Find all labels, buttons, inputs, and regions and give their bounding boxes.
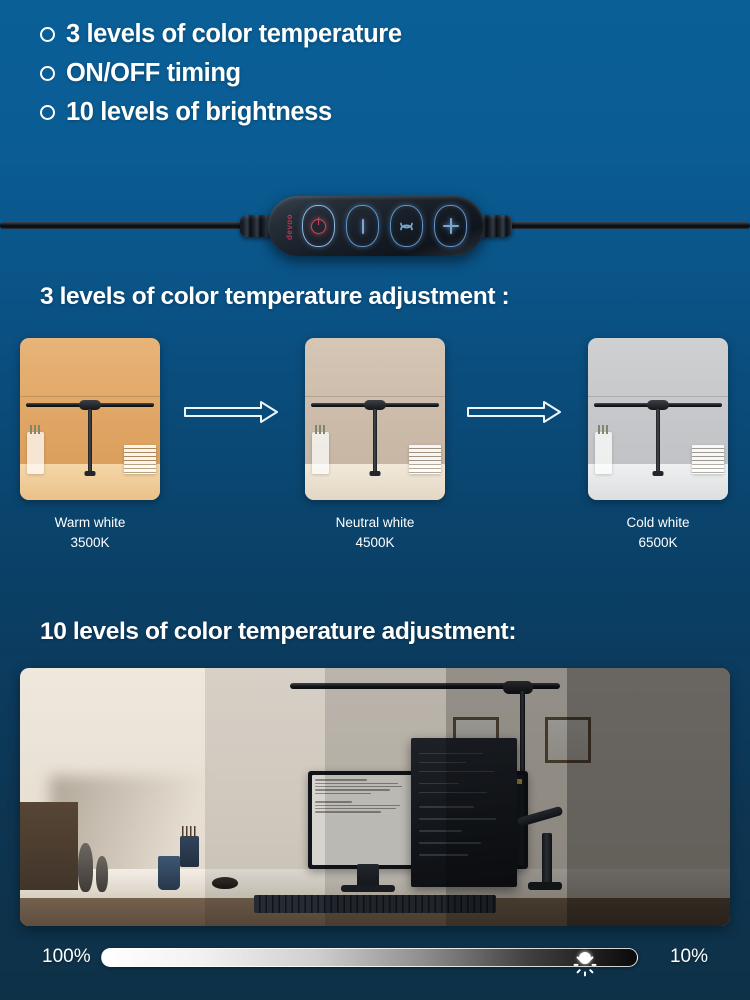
bullet-circle-icon <box>40 105 55 120</box>
brightness-band <box>205 668 326 926</box>
inline-controller: devoo <box>268 196 484 256</box>
slider-max-label: 100% <box>42 946 91 968</box>
controller-button-row <box>302 205 467 247</box>
color-temp-item: Warm white 3500K <box>20 338 160 552</box>
color-temp-item: Neutral white 4500K <box>305 338 445 552</box>
arrow-right-icon <box>183 400 279 424</box>
color-temp-kelvin: 3500K <box>20 533 160 553</box>
feature-label: 10 levels of brightness <box>66 98 332 126</box>
color-temp-caption: Warm white 3500K <box>20 513 160 552</box>
plus-icon <box>443 218 459 234</box>
feature-label: ON/OFF timing <box>66 59 241 87</box>
minus-bar-icon <box>362 219 364 234</box>
desk-scene-photo <box>20 668 730 926</box>
list-item: ON/OFF timing <box>40 59 660 87</box>
brand-logo: devoo <box>284 212 296 240</box>
slider-min-label: 10% <box>670 946 708 968</box>
color-temp-heading: 3 levels of color temperature adjustment… <box>40 283 509 311</box>
bullet-circle-icon <box>40 27 55 42</box>
color-temp-photo-neutral <box>305 338 445 500</box>
color-temp-name: Warm white <box>55 515 126 530</box>
color-temp-name: Cold white <box>626 515 689 530</box>
color-temp-kelvin: 4500K <box>305 533 445 553</box>
brightness-heading: 10 levels of color temperature adjustmen… <box>40 618 516 646</box>
power-button[interactable] <box>302 205 335 247</box>
brightness-slider[interactable]: 100% 10% <box>0 940 750 984</box>
bullet-circle-icon <box>40 66 55 81</box>
color-temp-button[interactable] <box>390 205 423 247</box>
color-temp-caption: Neutral white 4500K <box>305 513 445 552</box>
color-temp-name: Neutral white <box>336 515 415 530</box>
brightness-band <box>446 668 567 926</box>
color-temp-item: Cold white 6500K <box>588 338 728 552</box>
cable-right <box>480 222 750 229</box>
list-item: 10 levels of brightness <box>40 98 660 126</box>
arrow-right-icon <box>466 400 562 424</box>
brightness-band <box>325 668 446 926</box>
feature-label: 3 levels of color temperature <box>66 20 402 48</box>
sun-icon[interactable] <box>573 946 596 969</box>
brightness-band <box>567 668 730 926</box>
slider-track[interactable] <box>101 948 638 967</box>
color-temp-caption: Cold white 6500K <box>588 513 728 552</box>
color-temp-photo-warm <box>20 338 160 500</box>
dim-down-button[interactable] <box>346 205 379 247</box>
color-temp-swirl-icon <box>397 217 416 236</box>
color-temp-kelvin: 6500K <box>588 533 728 553</box>
power-icon <box>311 219 326 234</box>
cable-left <box>0 222 270 229</box>
color-temp-gallery: Warm white 3500K Neutral white 4500K C <box>0 338 750 563</box>
color-temp-photo-cold <box>588 338 728 500</box>
brightness-up-button[interactable] <box>434 205 467 247</box>
list-item: 3 levels of color temperature <box>40 20 660 48</box>
feature-list: 3 levels of color temperature ON/OFF tim… <box>40 20 660 137</box>
